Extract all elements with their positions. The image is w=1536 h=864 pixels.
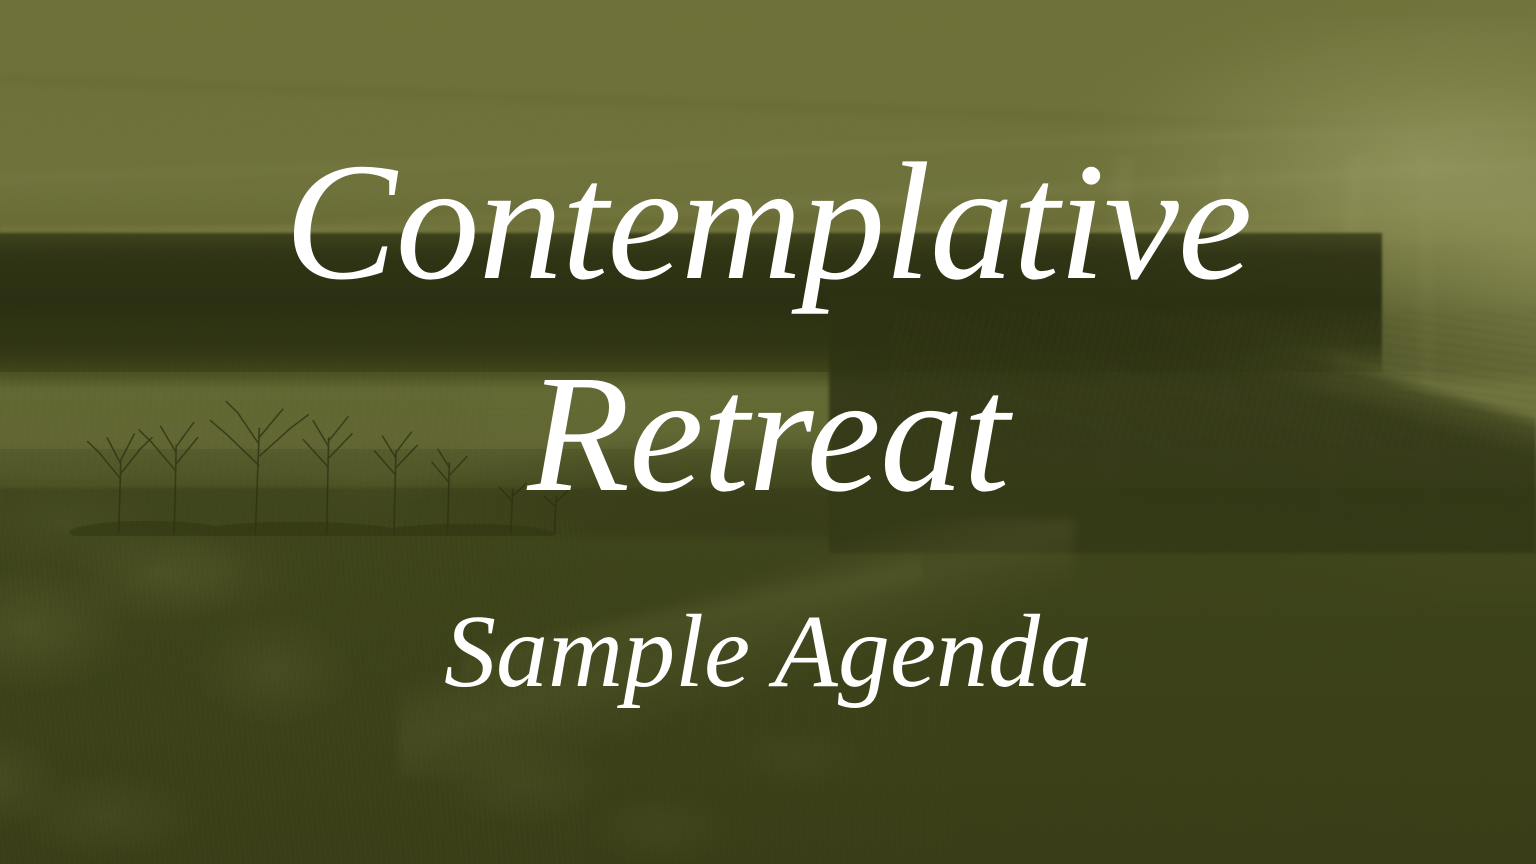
- slide-title-line-1: Contemplative: [285, 138, 1252, 306]
- title-slide: Contemplative Retreat Sample Agenda: [0, 0, 1536, 864]
- title-text-block: Contemplative Retreat Sample Agenda: [0, 0, 1536, 864]
- slide-subtitle: Sample Agenda: [444, 600, 1092, 704]
- slide-title-line-2: Retreat: [527, 350, 1008, 518]
